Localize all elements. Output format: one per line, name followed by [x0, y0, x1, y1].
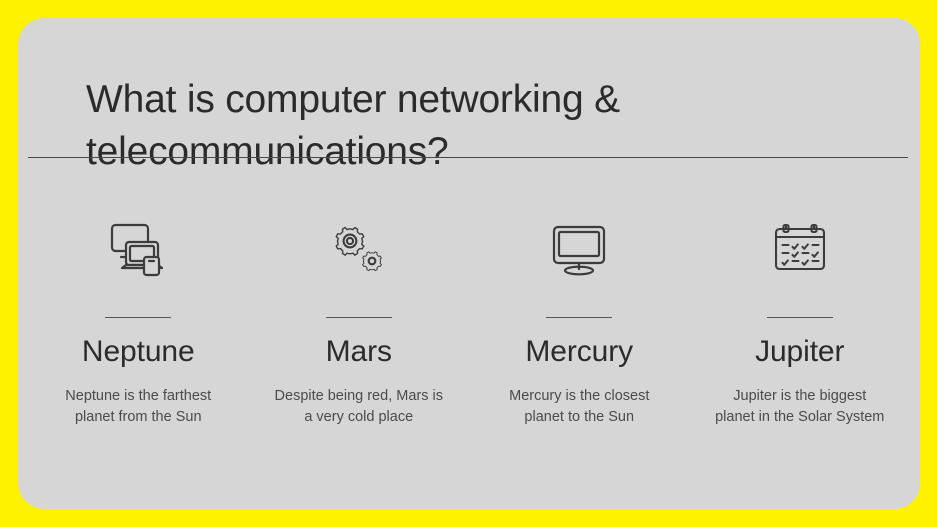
- column-jupiter: Jupiter Jupiter is the biggest planet in…: [690, 218, 911, 429]
- columns-container: Neptune Neptune is the farthest planet f…: [28, 218, 910, 429]
- gears-icon: [328, 218, 390, 280]
- column-neptune: Neptune Neptune is the farthest planet f…: [28, 218, 249, 429]
- devices-icon: [106, 218, 170, 280]
- column-divider: [767, 317, 833, 318]
- column-body-text: Mercury is the closest planet to the Sun: [491, 386, 667, 429]
- column-divider: [546, 317, 612, 318]
- column-body-text: Despite being red, Mars is a very cold p…: [271, 386, 447, 429]
- column-body-text: Jupiter is the biggest planet in the Sol…: [712, 386, 888, 429]
- page-title: What is computer networking & telecommun…: [86, 74, 866, 177]
- column-mars: Mars Despite being red, Mars is a very c…: [249, 218, 470, 429]
- column-body-text: Neptune is the farthest planet from the …: [50, 386, 226, 429]
- column-heading: Jupiter: [755, 334, 844, 370]
- slide-card: What is computer networking & telecommun…: [18, 18, 920, 509]
- column-mercury: Mercury Mercury is the closest planet to…: [469, 218, 690, 429]
- title-divider: [28, 157, 908, 158]
- column-heading: Mars: [326, 334, 392, 370]
- column-heading: Mercury: [525, 334, 633, 370]
- column-divider: [105, 317, 171, 318]
- column-heading: Neptune: [82, 334, 195, 370]
- column-divider: [326, 317, 392, 318]
- calendar-icon: [770, 218, 830, 280]
- monitor-icon: [548, 218, 610, 280]
